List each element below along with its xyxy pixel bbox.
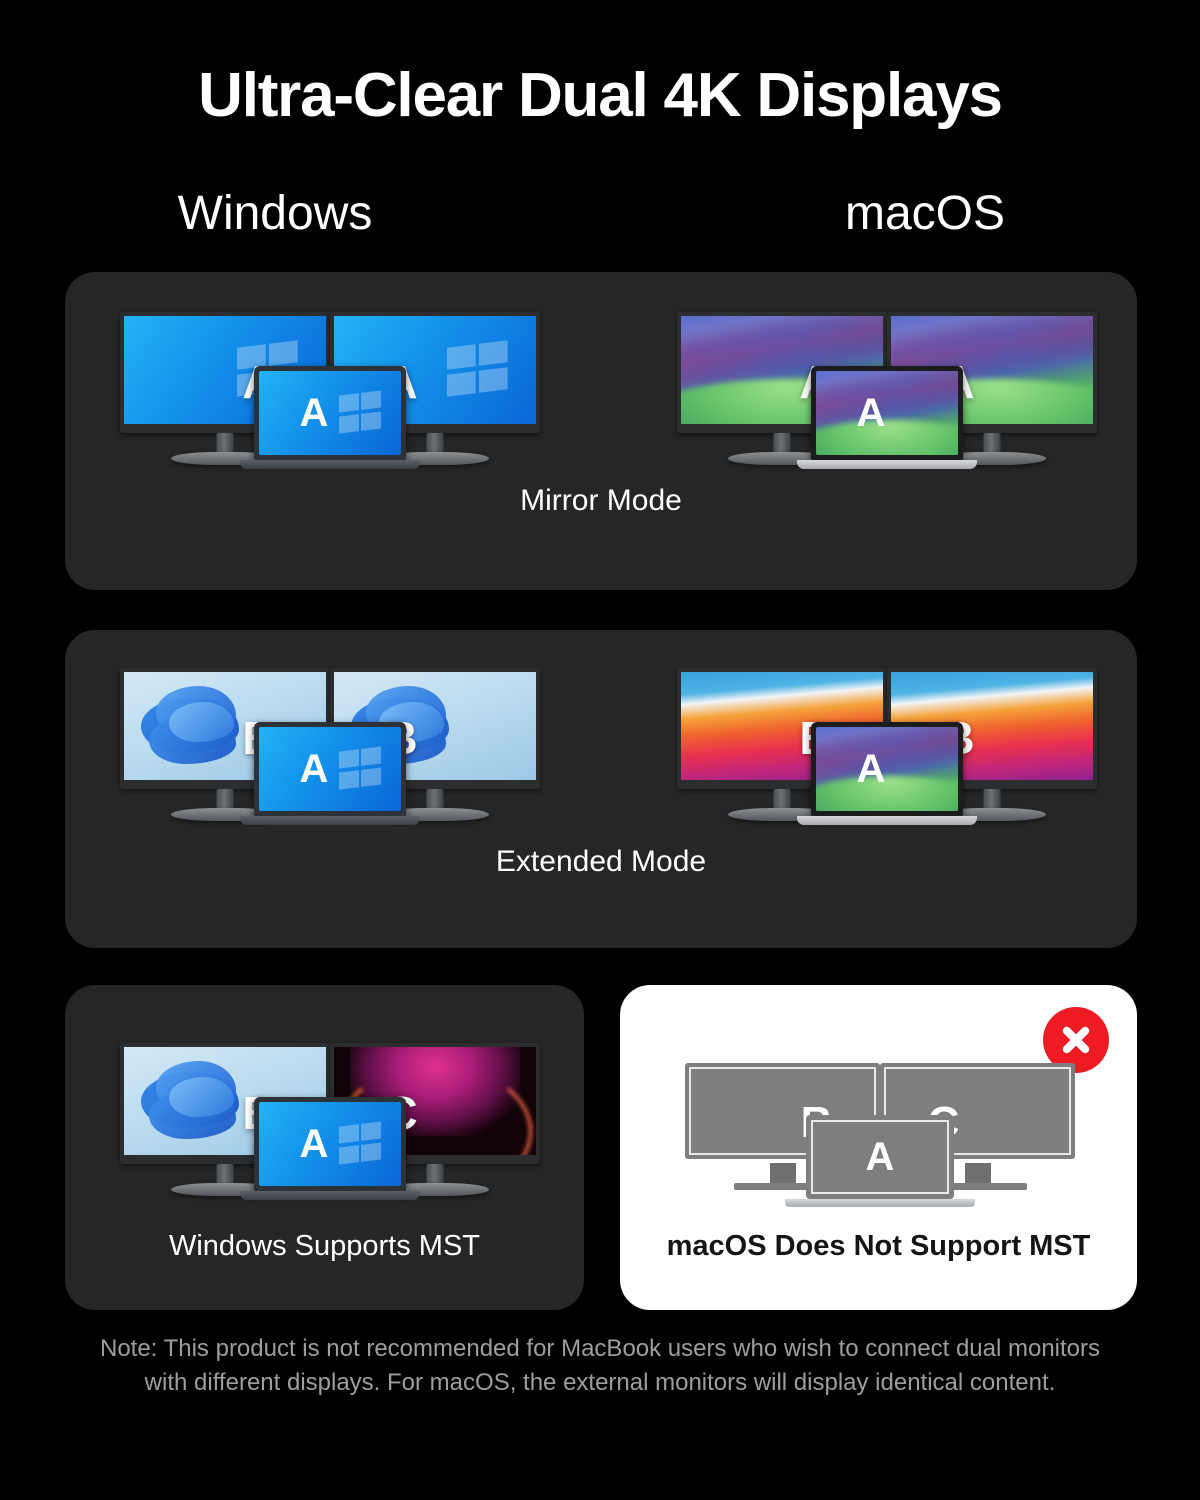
- laptop-windows: A: [254, 722, 406, 825]
- laptop-macbook: A: [811, 366, 963, 469]
- laptop-screen: A: [816, 371, 958, 455]
- card-label-macos-no-mst: macOS Does Not Support MST: [620, 1230, 1137, 1263]
- laptop-lid: A: [811, 722, 963, 816]
- scene-extended-macos: B B A: [677, 668, 1097, 833]
- wallpaper-windows10-icon: [259, 727, 401, 811]
- laptop-screen: A: [259, 371, 401, 455]
- scene-macos-no-mst: B C A: [685, 1063, 1075, 1213]
- laptop-glyph: A: [300, 393, 329, 433]
- laptop-glyph: A: [300, 749, 329, 789]
- laptop-windows: A: [254, 1097, 406, 1200]
- card-extended-mode: B B: [65, 630, 1137, 948]
- card-windows-mst: B C A: [65, 985, 584, 1310]
- laptop-glyph: A: [857, 749, 886, 789]
- card-label-windows-mst: Windows Supports MST: [65, 1230, 584, 1263]
- monitor-stand-neck: [770, 1163, 796, 1185]
- laptop-lid: A: [254, 722, 406, 816]
- scene-windows-mst: B C A: [120, 1043, 540, 1208]
- laptop-deck: [240, 460, 419, 469]
- card-mirror-mode: A A A A: [65, 272, 1137, 590]
- scene-mirror-windows: A A A: [120, 312, 540, 477]
- page-title: Ultra-Clear Dual 4K Displays: [0, 62, 1200, 130]
- laptop-lid: A: [811, 366, 963, 460]
- laptop-deck: [240, 1191, 419, 1200]
- laptop-deck: [797, 460, 976, 469]
- laptop-deck: [785, 1199, 974, 1207]
- os-header-windows: Windows: [0, 186, 598, 241]
- laptop-glyph: A: [857, 393, 886, 433]
- wallpaper-windows10-icon: [259, 1102, 401, 1186]
- card-label-mirror-mode: Mirror Mode: [65, 484, 1137, 518]
- scene-extended-windows: B B: [120, 668, 540, 833]
- laptop-screen: A: [259, 727, 401, 811]
- wallpaper-sonoma-icon: [816, 727, 958, 811]
- laptop-screen: A: [811, 1120, 949, 1194]
- laptop-screen: A: [816, 727, 958, 811]
- os-headers: Windows macOS: [0, 186, 1200, 241]
- laptop-deck: [240, 816, 419, 825]
- laptop-glyph: A: [866, 1137, 895, 1177]
- laptop-lid: A: [254, 366, 406, 460]
- laptop-windows: A: [254, 366, 406, 469]
- footnote-note: Note: This product is not recommended fo…: [95, 1332, 1105, 1400]
- laptop-deck: [797, 816, 976, 825]
- card-macos-no-mst: B C A macOS Does Not Support MST: [620, 985, 1137, 1310]
- laptop-macbook: A: [811, 722, 963, 825]
- laptop-macbook: A: [806, 1115, 954, 1207]
- os-header-macos: macOS: [598, 186, 1200, 241]
- card-label-extended-mode: Extended Mode: [65, 845, 1137, 879]
- laptop-lid: A: [806, 1115, 954, 1199]
- monitor-stand-neck: [965, 1163, 991, 1185]
- scene-mirror-macos: A A A: [677, 312, 1097, 477]
- wallpaper-windows10-icon: [259, 371, 401, 455]
- wallpaper-sonoma-icon: [816, 371, 958, 455]
- laptop-screen: A: [259, 1102, 401, 1186]
- laptop-lid: A: [254, 1097, 406, 1191]
- laptop-glyph: A: [300, 1124, 329, 1164]
